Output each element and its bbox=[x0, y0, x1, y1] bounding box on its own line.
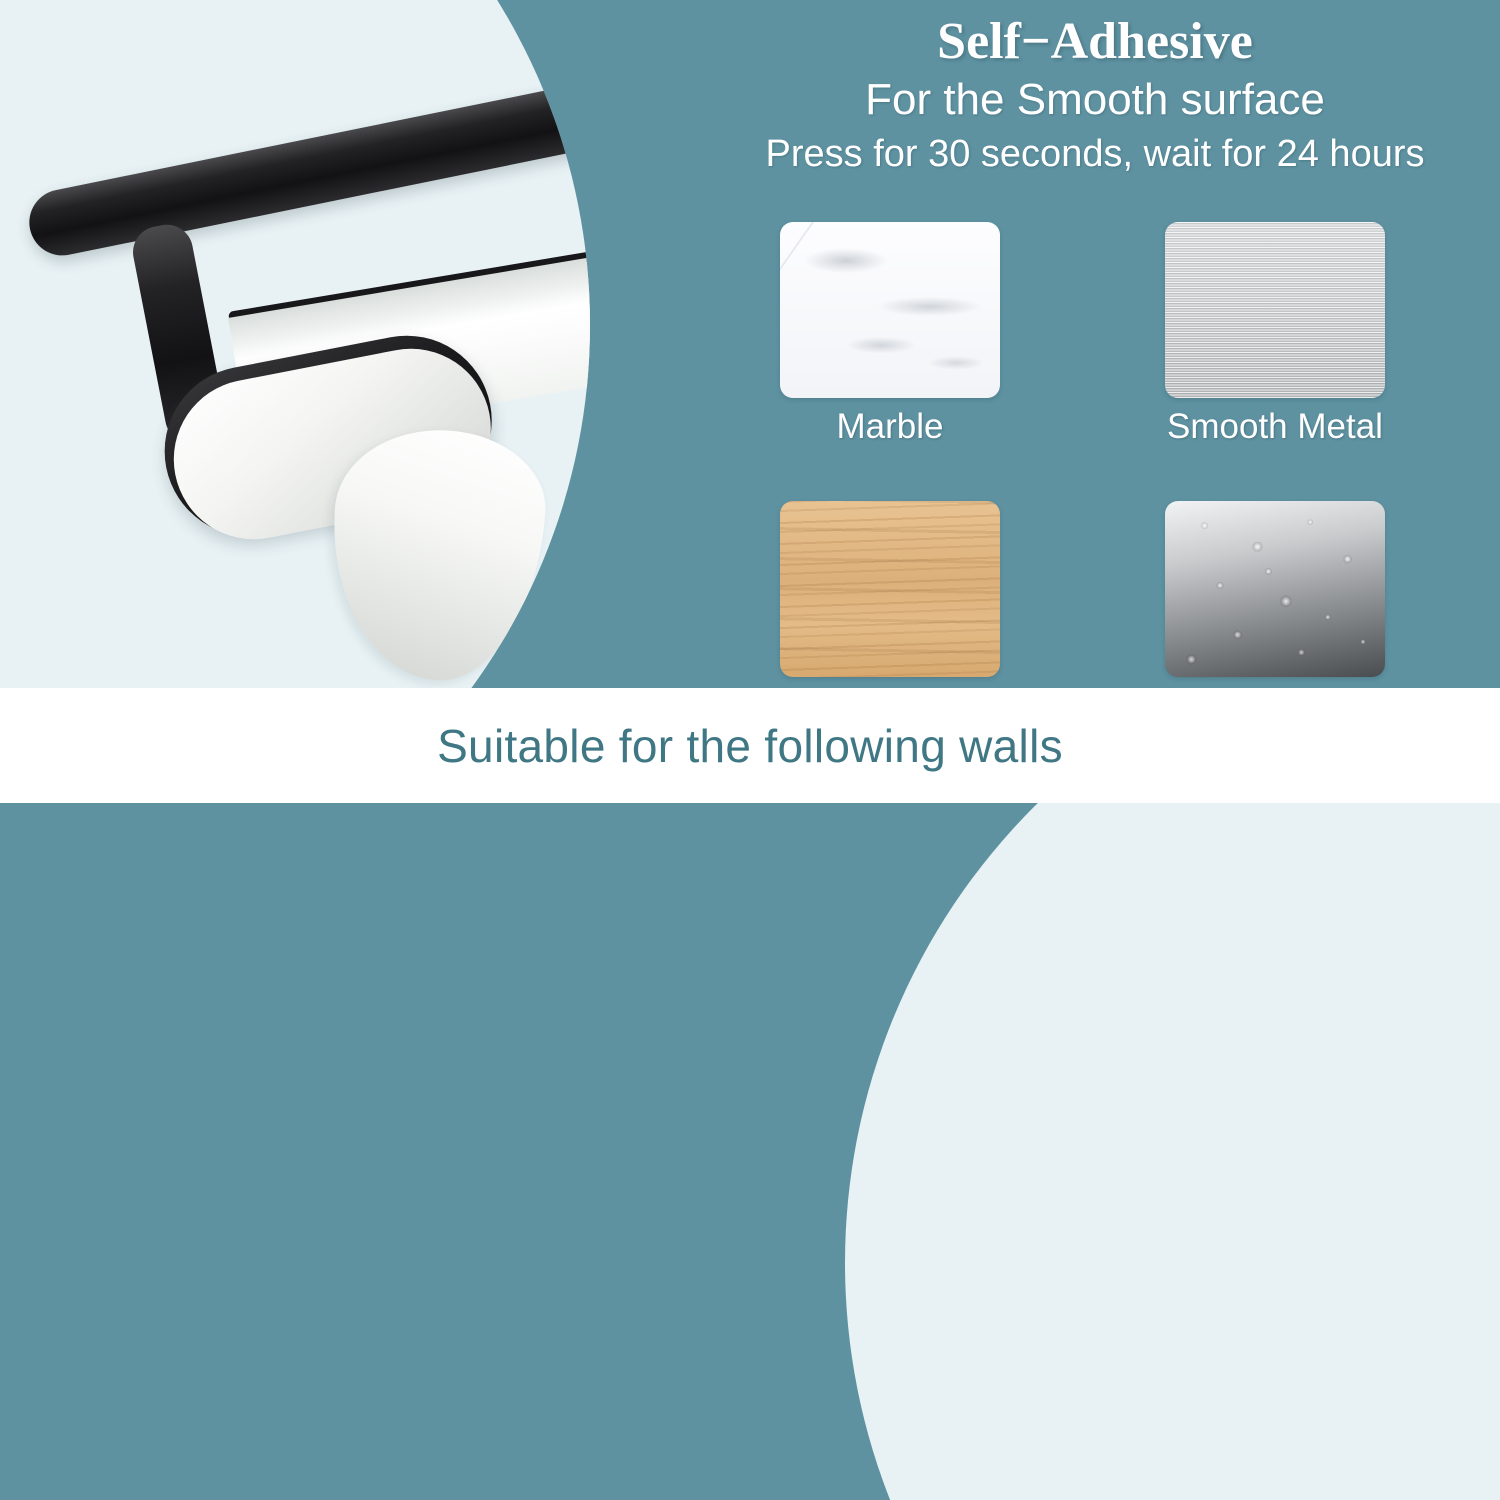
marble-swatch bbox=[780, 222, 1000, 398]
adhesive-heading-block: Self−Adhesive For the Smooth surface Pre… bbox=[700, 14, 1490, 178]
screw-product-photo bbox=[845, 803, 1500, 1500]
surface-item-glass: Glass bbox=[1165, 501, 1385, 688]
product-infographic: Self−Adhesive For the Smooth surface Pre… bbox=[0, 0, 1500, 1500]
glass-swatch bbox=[1165, 501, 1385, 677]
screw-mounting-panel: Screw Mounting For the Rough Surface Bri… bbox=[0, 803, 1500, 1500]
towel-bar-rod bbox=[23, 69, 590, 261]
wood-swatch bbox=[780, 501, 1000, 677]
adhesive-product-photo bbox=[0, 0, 590, 688]
adhesive-instruction: Press for 30 seconds, wait for 24 hours bbox=[700, 132, 1490, 178]
adhesive-subtitle: For the Smooth surface bbox=[700, 74, 1490, 126]
metal-swatch bbox=[1165, 222, 1385, 398]
divider-band: Suitable for the following walls bbox=[0, 688, 1500, 803]
surface-label: Smooth Metal bbox=[1165, 407, 1385, 447]
peeling-liner-tab bbox=[324, 423, 551, 687]
adhesive-surface-grid: Marble Smooth Metal Smooth Wood Glass bbox=[780, 222, 1385, 688]
surface-label: Marble bbox=[780, 407, 1000, 447]
adhesive-title: Self−Adhesive bbox=[700, 14, 1490, 70]
surface-item-marble: Marble bbox=[780, 222, 1000, 447]
self-adhesive-panel: Self−Adhesive For the Smooth surface Pre… bbox=[0, 0, 1500, 688]
surface-item-smooth-wood: Smooth Wood bbox=[780, 501, 1000, 688]
surface-item-smooth-metal: Smooth Metal bbox=[1165, 222, 1385, 447]
divider-caption: Suitable for the following walls bbox=[437, 719, 1063, 773]
